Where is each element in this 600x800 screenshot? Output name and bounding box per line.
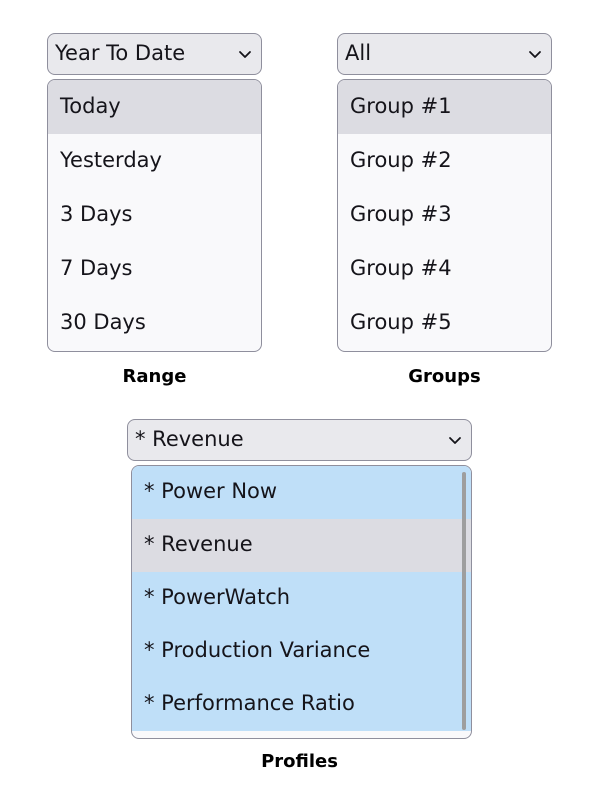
list-item[interactable]: 3 Days [48,188,261,242]
list-item-label: Today [60,96,121,119]
list-item[interactable]: Group #1 [338,80,551,134]
list-item[interactable]: 7 Days [48,242,261,296]
list-item-label: 7 Days [60,258,132,281]
range-combobox-value: Year To Date [55,43,237,66]
list-item[interactable]: * PowerWatch [132,572,471,625]
range-combobox[interactable]: Year To Date [47,33,262,75]
profiles-combobox-value: * Revenue [135,429,447,452]
list-item-label: 3 Days [60,204,132,227]
groups-combobox-value: All [345,43,527,66]
groups-dropdown-list-inner: Group #1 Group #2 Group #3 Group #4 Grou… [338,80,551,351]
list-item[interactable]: * Production Variance [132,625,471,678]
groups-combobox[interactable]: All [337,33,552,75]
list-item-label: Group #4 [350,258,452,281]
list-item-label: Yesterday [60,150,162,173]
range-dropdown-list[interactable]: Today Yesterday 3 Days 7 Days 30 Days [47,79,262,352]
groups-dropdown-list[interactable]: Group #1 Group #2 Group #3 Group #4 Grou… [337,79,552,352]
list-item[interactable]: Group #2 [338,134,551,188]
list-item-label: 30 Days [60,312,146,335]
list-item[interactable]: * Revenue [132,519,471,572]
list-item[interactable]: * Power Now [132,466,471,519]
list-item[interactable]: 30 Days [48,296,261,350]
list-item[interactable]: Today [48,80,261,134]
range-caption: Range [47,368,262,386]
profiles-caption: Profiles [127,753,472,771]
list-item-label: Group #5 [350,312,452,335]
list-item-label: Group #2 [350,150,452,173]
profiles-dropdown-list[interactable]: * Power Now * Revenue * PowerWatch * Pro… [131,465,472,739]
list-item-label: Group #1 [350,96,452,119]
chevron-down-icon [447,432,463,448]
chevron-down-icon [527,46,543,62]
list-item-label: * Production Variance [144,640,370,663]
profiles-list-scrollbar[interactable] [462,472,466,730]
list-item-label: Group #3 [350,204,452,227]
list-item-label: * Performance Ratio [144,693,355,716]
list-item[interactable]: Group #4 [338,242,551,296]
list-item[interactable]: Group #5 [338,296,551,350]
range-dropdown-list-inner: Today Yesterday 3 Days 7 Days 30 Days [48,80,261,351]
groups-caption: Groups [337,368,552,386]
chevron-down-icon [237,46,253,62]
profiles-dropdown-list-inner: * Power Now * Revenue * PowerWatch * Pro… [132,466,471,738]
list-item[interactable]: Yesterday [48,134,261,188]
list-item[interactable]: Group #3 [338,188,551,242]
profiles-combobox[interactable]: * Revenue [127,419,472,461]
list-item[interactable]: * Performance Ratio [132,678,471,731]
list-item-label: * Power Now [144,481,277,504]
list-item-label: * PowerWatch [144,587,290,610]
list-item-label: * Revenue [144,534,253,557]
